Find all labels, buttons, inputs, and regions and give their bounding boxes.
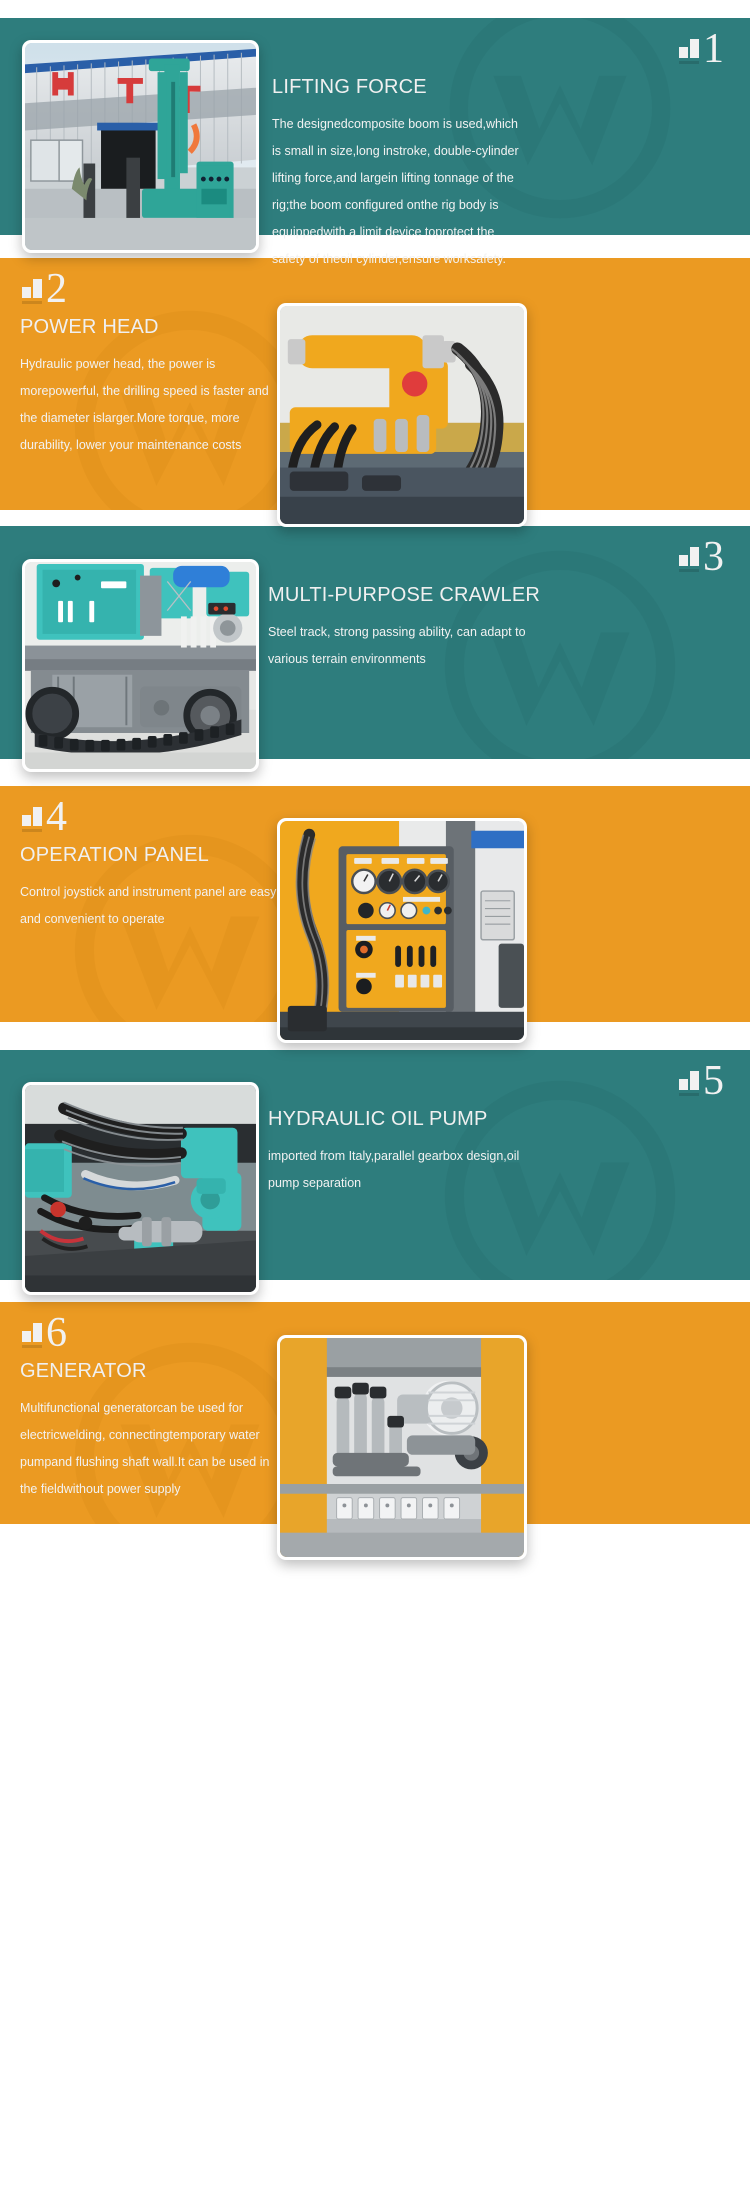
bar-chart-bar-small bbox=[22, 815, 31, 826]
section-number: 1 bbox=[703, 32, 723, 66]
section-2-photo-inner bbox=[280, 306, 524, 524]
bar-chart-bar-medium bbox=[690, 1071, 699, 1090]
bar-chart-bar-medium bbox=[33, 807, 42, 826]
section-5-photo bbox=[22, 1082, 259, 1295]
section-5-photo-inner bbox=[25, 1085, 256, 1292]
section-2-photo bbox=[277, 303, 527, 527]
section-4-number-badge: 4 bbox=[22, 798, 66, 832]
section-5-number-badge: 5 bbox=[679, 1062, 723, 1096]
section-2-text-block: POWER HEAD Hydraulic power head, the pow… bbox=[20, 314, 275, 459]
bar-chart-bar-medium bbox=[690, 39, 699, 58]
product-feature-page: 1 LIFTING FORCE The designedcomposite bo… bbox=[0, 0, 750, 2199]
bar-chart-bar-medium bbox=[690, 547, 699, 566]
bar-chart-bar-small bbox=[679, 47, 688, 58]
section-3-text-block: MULTI-PURPOSE CRAWLER Steel track, stron… bbox=[268, 582, 530, 673]
section-6-description: Multifunctional generatorcan be used for… bbox=[20, 1395, 278, 1503]
section-2-number-badge: 2 bbox=[22, 270, 66, 304]
bar-chart-icon bbox=[679, 37, 699, 64]
section-3-photo-inner bbox=[25, 562, 256, 769]
feature-section-6: 6 GENERATOR Multifunctional generatorcan… bbox=[0, 1302, 750, 1524]
section-2-title: POWER HEAD bbox=[20, 314, 275, 340]
bar-chart-bar-small bbox=[22, 287, 31, 298]
section-1-text-block: LIFTING FORCE The designedcomposite boom… bbox=[272, 74, 527, 273]
section-3-number-badge: 3 bbox=[679, 538, 723, 572]
section-1-title: LIFTING FORCE bbox=[272, 74, 527, 100]
bar-chart-bar-medium bbox=[33, 279, 42, 298]
section-4-description: Control joystick and instrument panel ar… bbox=[20, 879, 282, 933]
section-1-number-badge: 1 bbox=[679, 30, 723, 64]
section-5-title: HYDRAULIC OIL PUMP bbox=[268, 1106, 526, 1132]
feature-section-3: 3 MULTI-PURPOSE CRAWLER Steel track, str… bbox=[0, 526, 750, 759]
bar-chart-bar-small bbox=[22, 1331, 31, 1342]
feature-section-5: 5 HYDRAULIC OIL PUMP imported from Italy… bbox=[0, 1050, 750, 1280]
feature-section-1: 1 LIFTING FORCE The designedcomposite bo… bbox=[0, 18, 750, 235]
section-number: 4 bbox=[46, 800, 66, 834]
bar-chart-icon bbox=[22, 277, 42, 304]
bar-chart-icon bbox=[679, 1069, 699, 1096]
feature-section-4: 4 OPERATION PANEL Control joystick and i… bbox=[0, 786, 750, 1022]
bar-chart-bar-small bbox=[679, 1079, 688, 1090]
section-4-text-block: OPERATION PANEL Control joystick and ins… bbox=[20, 842, 282, 933]
section-3-photo bbox=[22, 559, 259, 772]
section-6-photo-inner bbox=[280, 1338, 524, 1557]
section-number: 5 bbox=[703, 1064, 723, 1098]
section-6-number-badge: 6 bbox=[22, 1314, 66, 1348]
section-number: 2 bbox=[46, 272, 66, 306]
section-6-photo bbox=[277, 1335, 527, 1560]
section-5-description: imported from Italy,parallel gearbox des… bbox=[268, 1143, 526, 1197]
bar-chart-bar-medium bbox=[33, 1323, 42, 1342]
feature-section-2: 2 POWER HEAD Hydraulic power head, the p… bbox=[0, 258, 750, 510]
section-1-photo bbox=[22, 40, 259, 253]
bar-chart-icon bbox=[22, 1321, 42, 1348]
section-3-title: MULTI-PURPOSE CRAWLER bbox=[268, 582, 530, 608]
section-1-description: The designedcomposite boom is used,which… bbox=[272, 111, 527, 273]
section-6-title: GENERATOR bbox=[20, 1358, 278, 1384]
section-4-photo-inner bbox=[280, 821, 524, 1040]
section-4-title: OPERATION PANEL bbox=[20, 842, 282, 868]
section-6-text-block: GENERATOR Multifunctional generatorcan b… bbox=[20, 1358, 278, 1503]
section-2-description: Hydraulic power head, the power is morep… bbox=[20, 351, 275, 459]
section-5-text-block: HYDRAULIC OIL PUMP imported from Italy,p… bbox=[268, 1106, 526, 1197]
section-3-description: Steel track, strong passing ability, can… bbox=[268, 619, 530, 673]
section-1-photo-inner bbox=[25, 43, 256, 250]
section-number: 3 bbox=[703, 540, 723, 574]
bar-chart-bar-small bbox=[679, 555, 688, 566]
section-number: 6 bbox=[46, 1316, 66, 1350]
section-4-photo bbox=[277, 818, 527, 1043]
bar-chart-icon bbox=[679, 545, 699, 572]
bar-chart-icon bbox=[22, 805, 42, 832]
